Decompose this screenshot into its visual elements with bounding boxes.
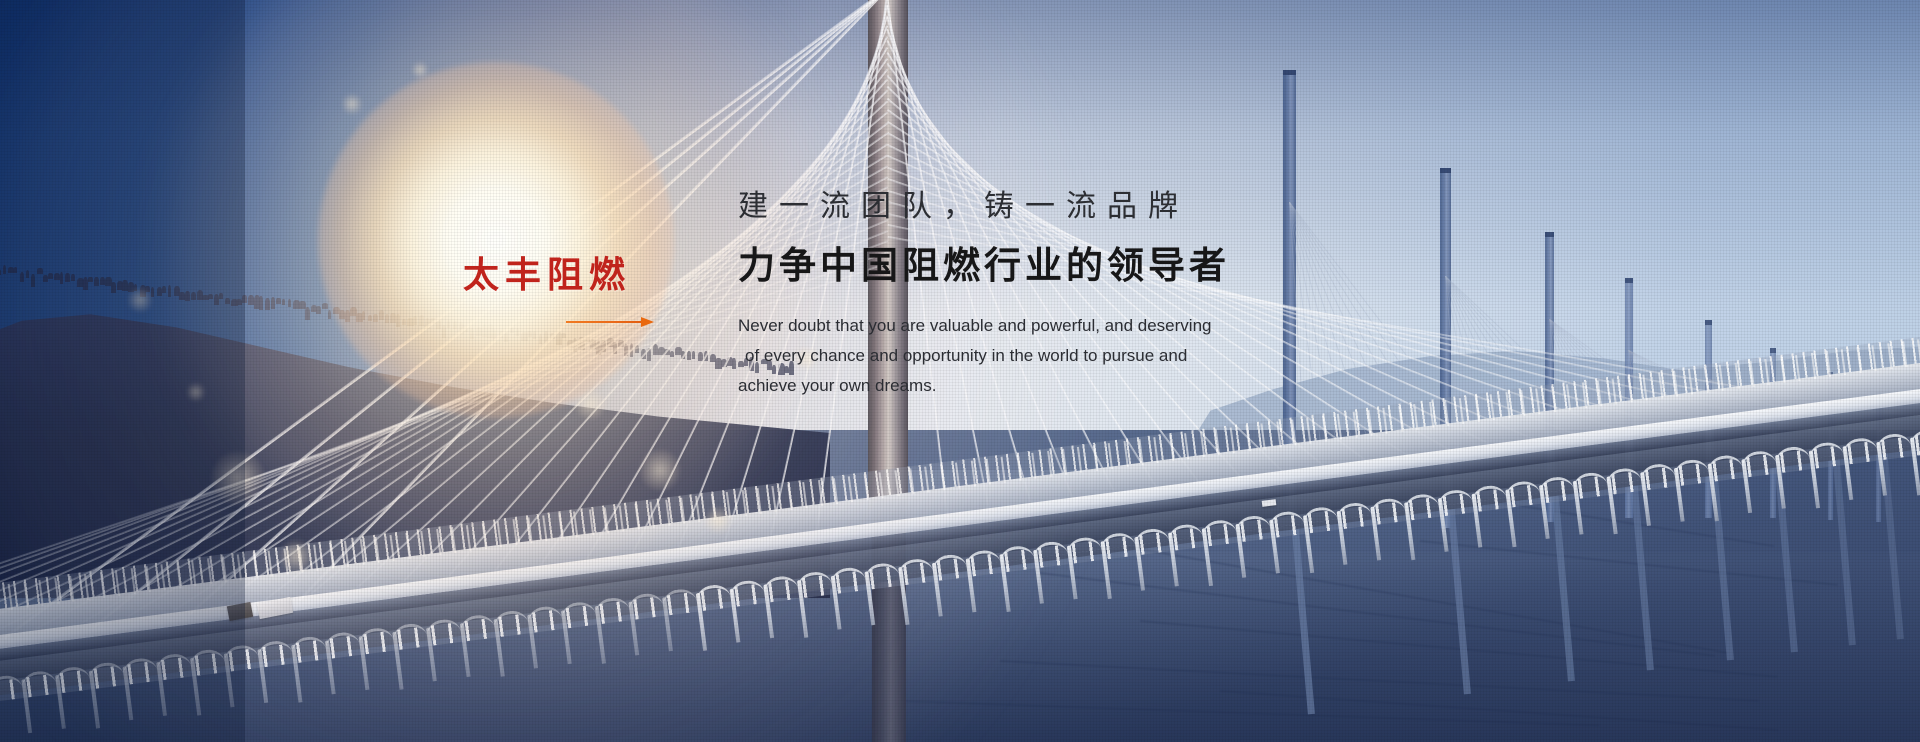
banner-copy: 建一流团队，铸一流品牌 力争中国阻燃行业的领导者 Never doubt tha… [738,188,1378,402]
subcopy-line-1: Never doubt that you are valuable and po… [738,311,1308,341]
brand-logo[interactable]: 太丰阻燃 [463,258,693,327]
hero-banner: 太丰阻燃 建一流团队，铸一流品牌 力争中国阻燃行业的领导者 Never doub… [0,0,1920,742]
headline-secondary: 建一流团队，铸一流品牌 [738,188,1378,226]
subcopy-line-3: achieve your own dreams. [738,371,1308,401]
brand-name: 太丰阻燃 [463,258,693,294]
arrow-head [641,317,654,327]
right-arrow-icon [566,317,654,327]
arrow-shaft [566,321,644,323]
subcopy-line-2: of every chance and opportunity in the w… [738,341,1308,371]
headline-primary: 力争中国阻燃行业的领导者 [738,244,1378,288]
subcopy-paragraph: Never doubt that you are valuable and po… [738,311,1308,402]
